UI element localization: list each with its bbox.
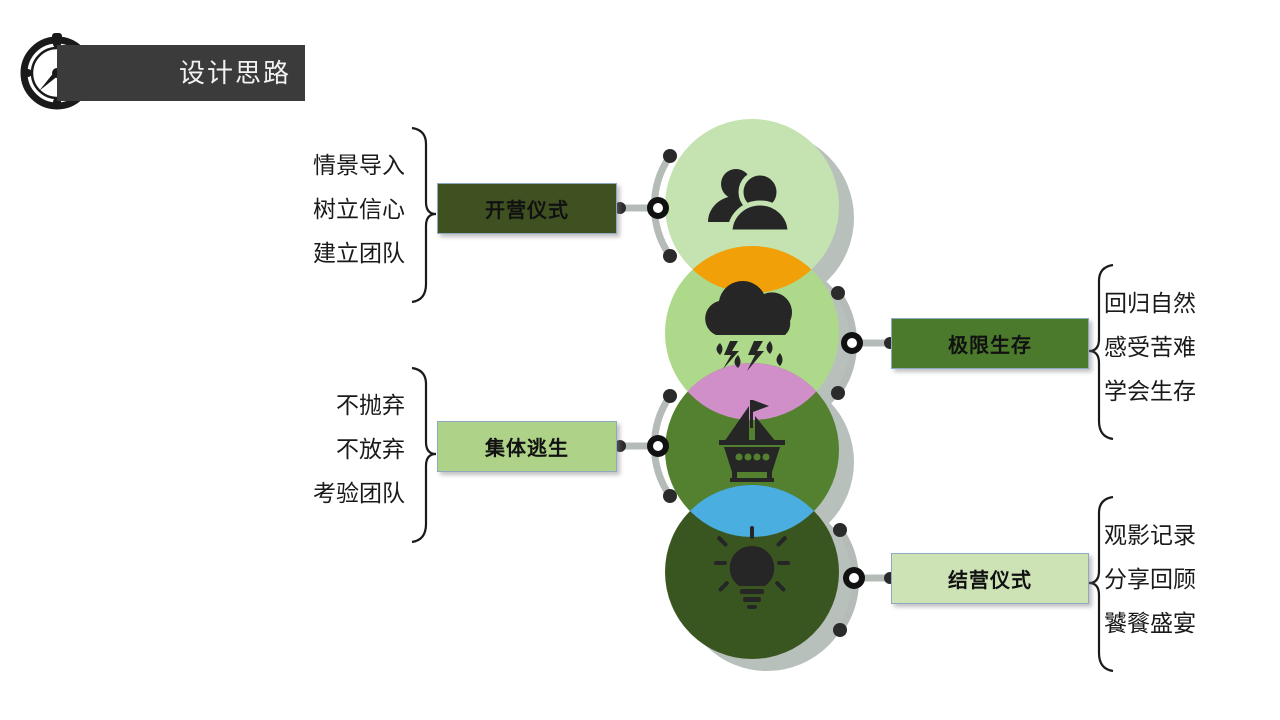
stage-box-group-escape[interactable]: 集体逃生 xyxy=(437,421,617,472)
bullet-item: 建立团队 xyxy=(270,231,405,275)
stage-box-label: 开营仪式 xyxy=(485,194,569,223)
bullet-item: 饕餮盛宴 xyxy=(1104,601,1244,645)
bracket-opening-ceremony xyxy=(412,128,436,302)
stage-box-label: 结营仪式 xyxy=(948,564,1032,593)
bullets-closing-ceremony: 观影记录 分享回顾 饕餮盛宴 xyxy=(1104,513,1244,645)
connector-group-escape xyxy=(614,389,677,503)
stage-circle-closing-ceremony xyxy=(665,485,839,659)
stage-circle-extreme-survival xyxy=(665,246,839,420)
intersection-lens-orchid xyxy=(665,363,839,537)
bullet-item: 回归自然 xyxy=(1104,281,1244,325)
two-people-icon xyxy=(708,169,790,232)
connector-closing-ceremony xyxy=(833,523,896,637)
bullet-item: 树立信心 xyxy=(270,187,405,231)
intersection-lens-orange xyxy=(665,246,839,420)
page-title: 设计思路 xyxy=(179,60,291,86)
intersection-lens-blue xyxy=(665,485,839,659)
bracket-group-escape xyxy=(412,368,436,542)
stage-circle-group-escape xyxy=(665,363,839,537)
bullet-item: 不放弃 xyxy=(270,427,405,471)
stage-box-label: 集体逃生 xyxy=(485,432,569,461)
connector-extreme-survival xyxy=(831,286,896,400)
bullets-opening-ceremony: 情景导入 树立信心 建立团队 xyxy=(270,143,405,275)
bullet-item: 分享回顾 xyxy=(1104,557,1244,601)
bullet-item: 感受苦难 xyxy=(1104,325,1244,369)
stage-box-extreme-survival[interactable]: 极限生存 xyxy=(891,318,1089,369)
header-banner: 设计思路 xyxy=(57,45,305,101)
connector-opening-ceremony xyxy=(614,149,677,263)
storm-cloud-icon xyxy=(705,281,792,371)
bullet-item: 不抛弃 xyxy=(270,383,405,427)
bullet-item: 考验团队 xyxy=(270,471,405,515)
bullet-item: 学会生存 xyxy=(1104,369,1244,413)
bullets-group-escape: 不抛弃 不放弃 考验团队 xyxy=(270,383,405,515)
slide-canvas: 设计思路 xyxy=(0,0,1280,720)
bullet-item: 情景导入 xyxy=(270,143,405,187)
bullets-extreme-survival: 回归自然 感受苦难 学会生存 xyxy=(1104,281,1244,413)
stage-box-closing-ceremony[interactable]: 结营仪式 xyxy=(891,553,1089,604)
sailboat-icon xyxy=(719,400,785,482)
circle-shadows xyxy=(680,131,854,671)
bullet-item: 观影记录 xyxy=(1104,513,1244,557)
stage-box-opening-ceremony[interactable]: 开营仪式 xyxy=(437,183,617,234)
lightbulb-icon xyxy=(714,526,790,609)
stage-circle-opening-ceremony xyxy=(665,119,839,293)
stage-box-label: 极限生存 xyxy=(948,329,1032,358)
